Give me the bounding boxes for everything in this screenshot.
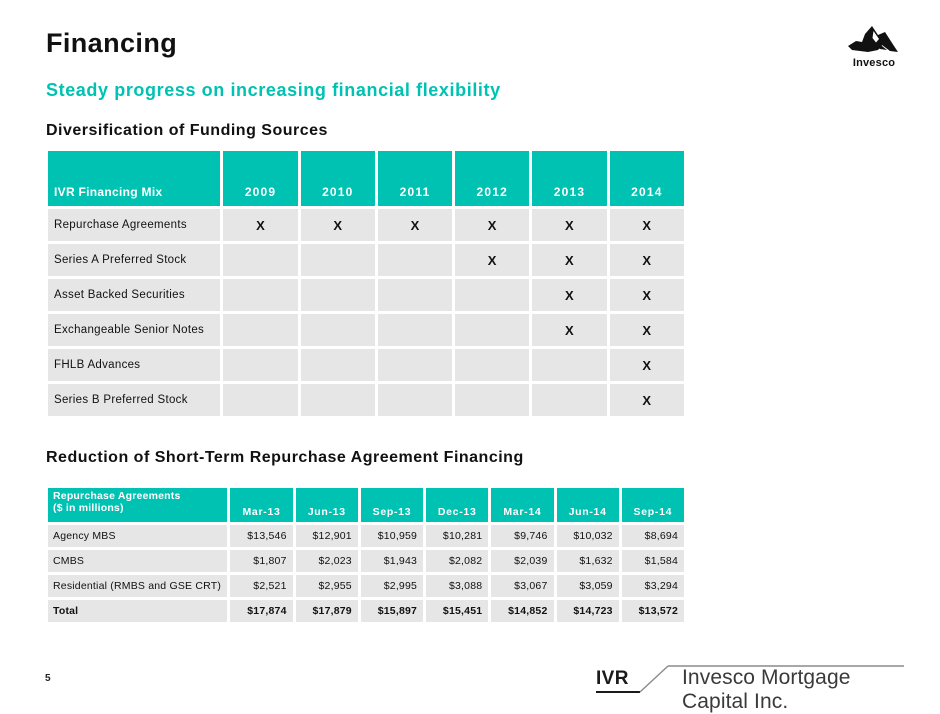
table-row-total: Total $17,874 $17,879 $15,897 $15,451 $1… (48, 600, 684, 622)
invesco-wordmark: Invesco (838, 57, 910, 69)
cell-mar-14: $2,039 (491, 550, 553, 572)
table-row: Series B Preferred Stock X (48, 384, 684, 416)
cell-2012: X (455, 244, 529, 276)
cell-jun-13: $17,879 (296, 600, 358, 622)
cell-2010 (301, 384, 375, 416)
financing-mix-table: IVR Financing Mix 2009 2010 2011 2012 20… (45, 148, 687, 419)
row-label: Total (48, 600, 227, 622)
table-row: Agency MBS $13,546 $12,901 $10,959 $10,2… (48, 525, 684, 547)
cell-dec-13: $3,088 (426, 575, 488, 597)
cell-2010: X (301, 209, 375, 241)
cell-mar-13: $13,546 (230, 525, 292, 547)
row-label: Exchangeable Senior Notes (48, 314, 220, 346)
cell-sep-14: $8,694 (622, 525, 684, 547)
cell-2013: X (532, 244, 606, 276)
cell-sep-14: $3,294 (622, 575, 684, 597)
cell-2012: X (455, 209, 529, 241)
cell-2013 (532, 384, 606, 416)
row-label: CMBS (48, 550, 227, 572)
cell-sep-14: $13,572 (622, 600, 684, 622)
cell-2011 (378, 349, 452, 381)
cell-dec-13: $10,281 (426, 525, 488, 547)
row-label: FHLB Advances (48, 349, 220, 381)
cell-2014: X (610, 244, 684, 276)
cell-mar-14: $14,852 (491, 600, 553, 622)
col-header-dec-13: Dec-13 (426, 488, 488, 522)
col-header-2011: 2011 (378, 151, 452, 206)
cell-2014: X (610, 384, 684, 416)
cell-2009: X (223, 209, 297, 241)
slide: Financing Steady progress on increasing … (0, 0, 940, 705)
page-title: Financing (46, 28, 177, 59)
cell-2011: X (378, 209, 452, 241)
table-header-row: IVR Financing Mix 2009 2010 2011 2012 20… (48, 151, 684, 206)
cell-2012 (455, 314, 529, 346)
cell-jun-13: $2,955 (296, 575, 358, 597)
cell-2013: X (532, 209, 606, 241)
row-label: Series B Preferred Stock (48, 384, 220, 416)
cell-sep-13: $1,943 (361, 550, 423, 572)
table-header-row: Repurchase Agreements ($ in millions) Ma… (48, 488, 684, 522)
col-header-2012: 2012 (455, 151, 529, 206)
cell-2014: X (610, 279, 684, 311)
cell-2011 (378, 244, 452, 276)
cell-2010 (301, 349, 375, 381)
page-subtitle: Steady progress on increasing financial … (46, 80, 501, 101)
cell-2013: X (532, 314, 606, 346)
cell-mar-13: $17,874 (230, 600, 292, 622)
cell-2012 (455, 349, 529, 381)
cell-jun-14: $1,632 (557, 550, 619, 572)
table-row: Residential (RMBS and GSE CRT) $2,521 $2… (48, 575, 684, 597)
table-row: FHLB Advances X (48, 349, 684, 381)
table-row: Exchangeable Senior Notes X X (48, 314, 684, 346)
footer-brand: IVR Invesco Mortgage Capital Inc. (596, 662, 906, 700)
cell-mar-13: $2,521 (230, 575, 292, 597)
cell-2011 (378, 314, 452, 346)
cell-2009 (223, 384, 297, 416)
cell-2011 (378, 279, 452, 311)
cell-2009 (223, 349, 297, 381)
cell-dec-13: $15,451 (426, 600, 488, 622)
cell-jun-13: $2,023 (296, 550, 358, 572)
col-header-2009: 2009 (223, 151, 297, 206)
cell-sep-13: $2,995 (361, 575, 423, 597)
table-row: Series A Preferred Stock X X X (48, 244, 684, 276)
page-number: 5 (45, 673, 51, 684)
header-label-line1: Repurchase Agreements (53, 490, 181, 502)
cell-2011 (378, 384, 452, 416)
cell-mar-13: $1,807 (230, 550, 292, 572)
col-header-jun-13: Jun-13 (296, 488, 358, 522)
col-header-mar-14: Mar-14 (491, 488, 553, 522)
cell-2010 (301, 279, 375, 311)
cell-2010 (301, 314, 375, 346)
row-label: Agency MBS (48, 525, 227, 547)
cell-dec-13: $2,082 (426, 550, 488, 572)
col-header-repurchase-agreements: Repurchase Agreements ($ in millions) (48, 488, 227, 522)
col-header-sep-14: Sep-14 (622, 488, 684, 522)
col-header-2010: 2010 (301, 151, 375, 206)
col-header-sep-13: Sep-13 (361, 488, 423, 522)
cell-2010 (301, 244, 375, 276)
table-row: Repurchase Agreements X X X X X X (48, 209, 684, 241)
cell-2009 (223, 279, 297, 311)
cell-2009 (223, 244, 297, 276)
cell-sep-13: $15,897 (361, 600, 423, 622)
col-header-2013: 2013 (532, 151, 606, 206)
header-label-line2: ($ in millions) (53, 502, 124, 514)
repurchase-agreements-table: Repurchase Agreements ($ in millions) Ma… (45, 485, 687, 625)
cell-sep-14: $1,584 (622, 550, 684, 572)
row-label: Series A Preferred Stock (48, 244, 220, 276)
cell-2009 (223, 314, 297, 346)
cell-jun-13: $12,901 (296, 525, 358, 547)
row-label: Asset Backed Securities (48, 279, 220, 311)
cell-2013 (532, 349, 606, 381)
col-header-mar-13: Mar-13 (230, 488, 292, 522)
invesco-logo: Invesco (838, 24, 910, 74)
cell-mar-14: $9,746 (491, 525, 553, 547)
cell-2014: X (610, 209, 684, 241)
mountain-peak-icon (838, 24, 910, 58)
footer-company: Invesco Mortgage Capital Inc. (682, 666, 906, 714)
cell-2012 (455, 384, 529, 416)
section-heading-repo-reduction: Reduction of Short-Term Repurchase Agree… (46, 449, 524, 467)
cell-sep-13: $10,959 (361, 525, 423, 547)
col-header-jun-14: Jun-14 (557, 488, 619, 522)
table-row: Asset Backed Securities X X (48, 279, 684, 311)
cell-2012 (455, 279, 529, 311)
row-label: Repurchase Agreements (48, 209, 220, 241)
footer-ticker: IVR (596, 668, 629, 690)
cell-2013: X (532, 279, 606, 311)
row-label: Residential (RMBS and GSE CRT) (48, 575, 227, 597)
section-heading-funding-sources: Diversification of Funding Sources (46, 122, 328, 140)
col-header-2014: 2014 (610, 151, 684, 206)
cell-jun-14: $14,723 (557, 600, 619, 622)
cell-mar-14: $3,067 (491, 575, 553, 597)
cell-2014: X (610, 349, 684, 381)
cell-jun-14: $10,032 (557, 525, 619, 547)
cell-2014: X (610, 314, 684, 346)
cell-jun-14: $3,059 (557, 575, 619, 597)
table-row: CMBS $1,807 $2,023 $1,943 $2,082 $2,039 … (48, 550, 684, 572)
col-header-financing-mix: IVR Financing Mix (48, 151, 220, 206)
